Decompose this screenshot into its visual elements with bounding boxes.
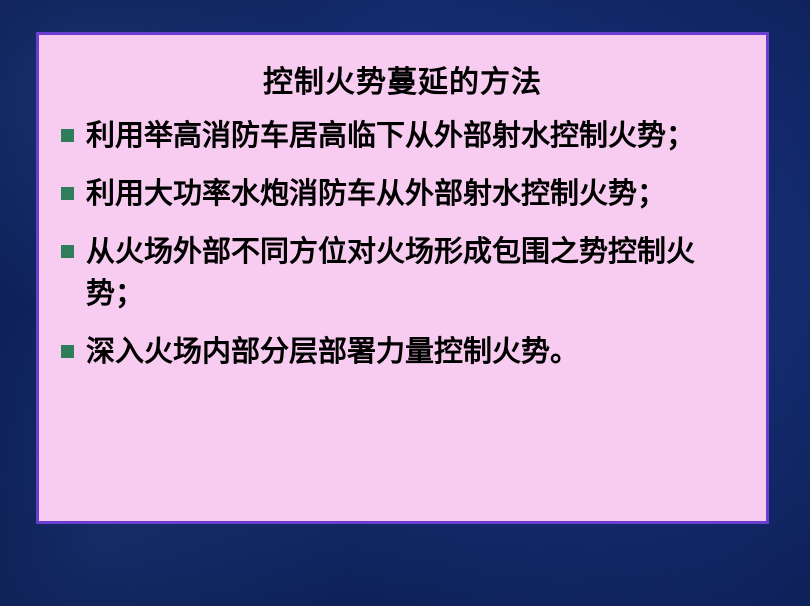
list-item: 深入火场内部分层部署力量控制火势。 <box>49 331 748 372</box>
list-item: 利用举高消防车居高临下从外部射水控制火势； <box>49 115 748 156</box>
list-item-text: 利用大功率水炮消防车从外部射水控制火势； <box>86 173 748 214</box>
square-bullet-icon <box>61 129 74 142</box>
page-title: 控制火势蔓延的方法 <box>39 57 766 101</box>
square-bullet-icon <box>61 245 74 258</box>
square-bullet-icon <box>61 345 74 358</box>
list-item: 利用大功率水炮消防车从外部射水控制火势； <box>49 173 748 214</box>
list-item: 从火场外部不同方位对火场形成包围之势控制火势； <box>49 231 748 313</box>
slide-canvas: 控制火势蔓延的方法 利用举高消防车居高临下从外部射水控制火势； 利用大功率水炮消… <box>0 0 810 606</box>
slide-content-panel: 控制火势蔓延的方法 利用举高消防车居高临下从外部射水控制火势； 利用大功率水炮消… <box>36 32 769 524</box>
list-item-text: 深入火场内部分层部署力量控制火势。 <box>86 331 748 372</box>
list-item-text: 利用举高消防车居高临下从外部射水控制火势； <box>86 115 748 156</box>
square-bullet-icon <box>61 187 74 200</box>
bullet-list: 利用举高消防车居高临下从外部射水控制火势； 利用大功率水炮消防车从外部射水控制火… <box>39 115 766 372</box>
list-item-text: 从火场外部不同方位对火场形成包围之势控制火势； <box>86 231 748 313</box>
